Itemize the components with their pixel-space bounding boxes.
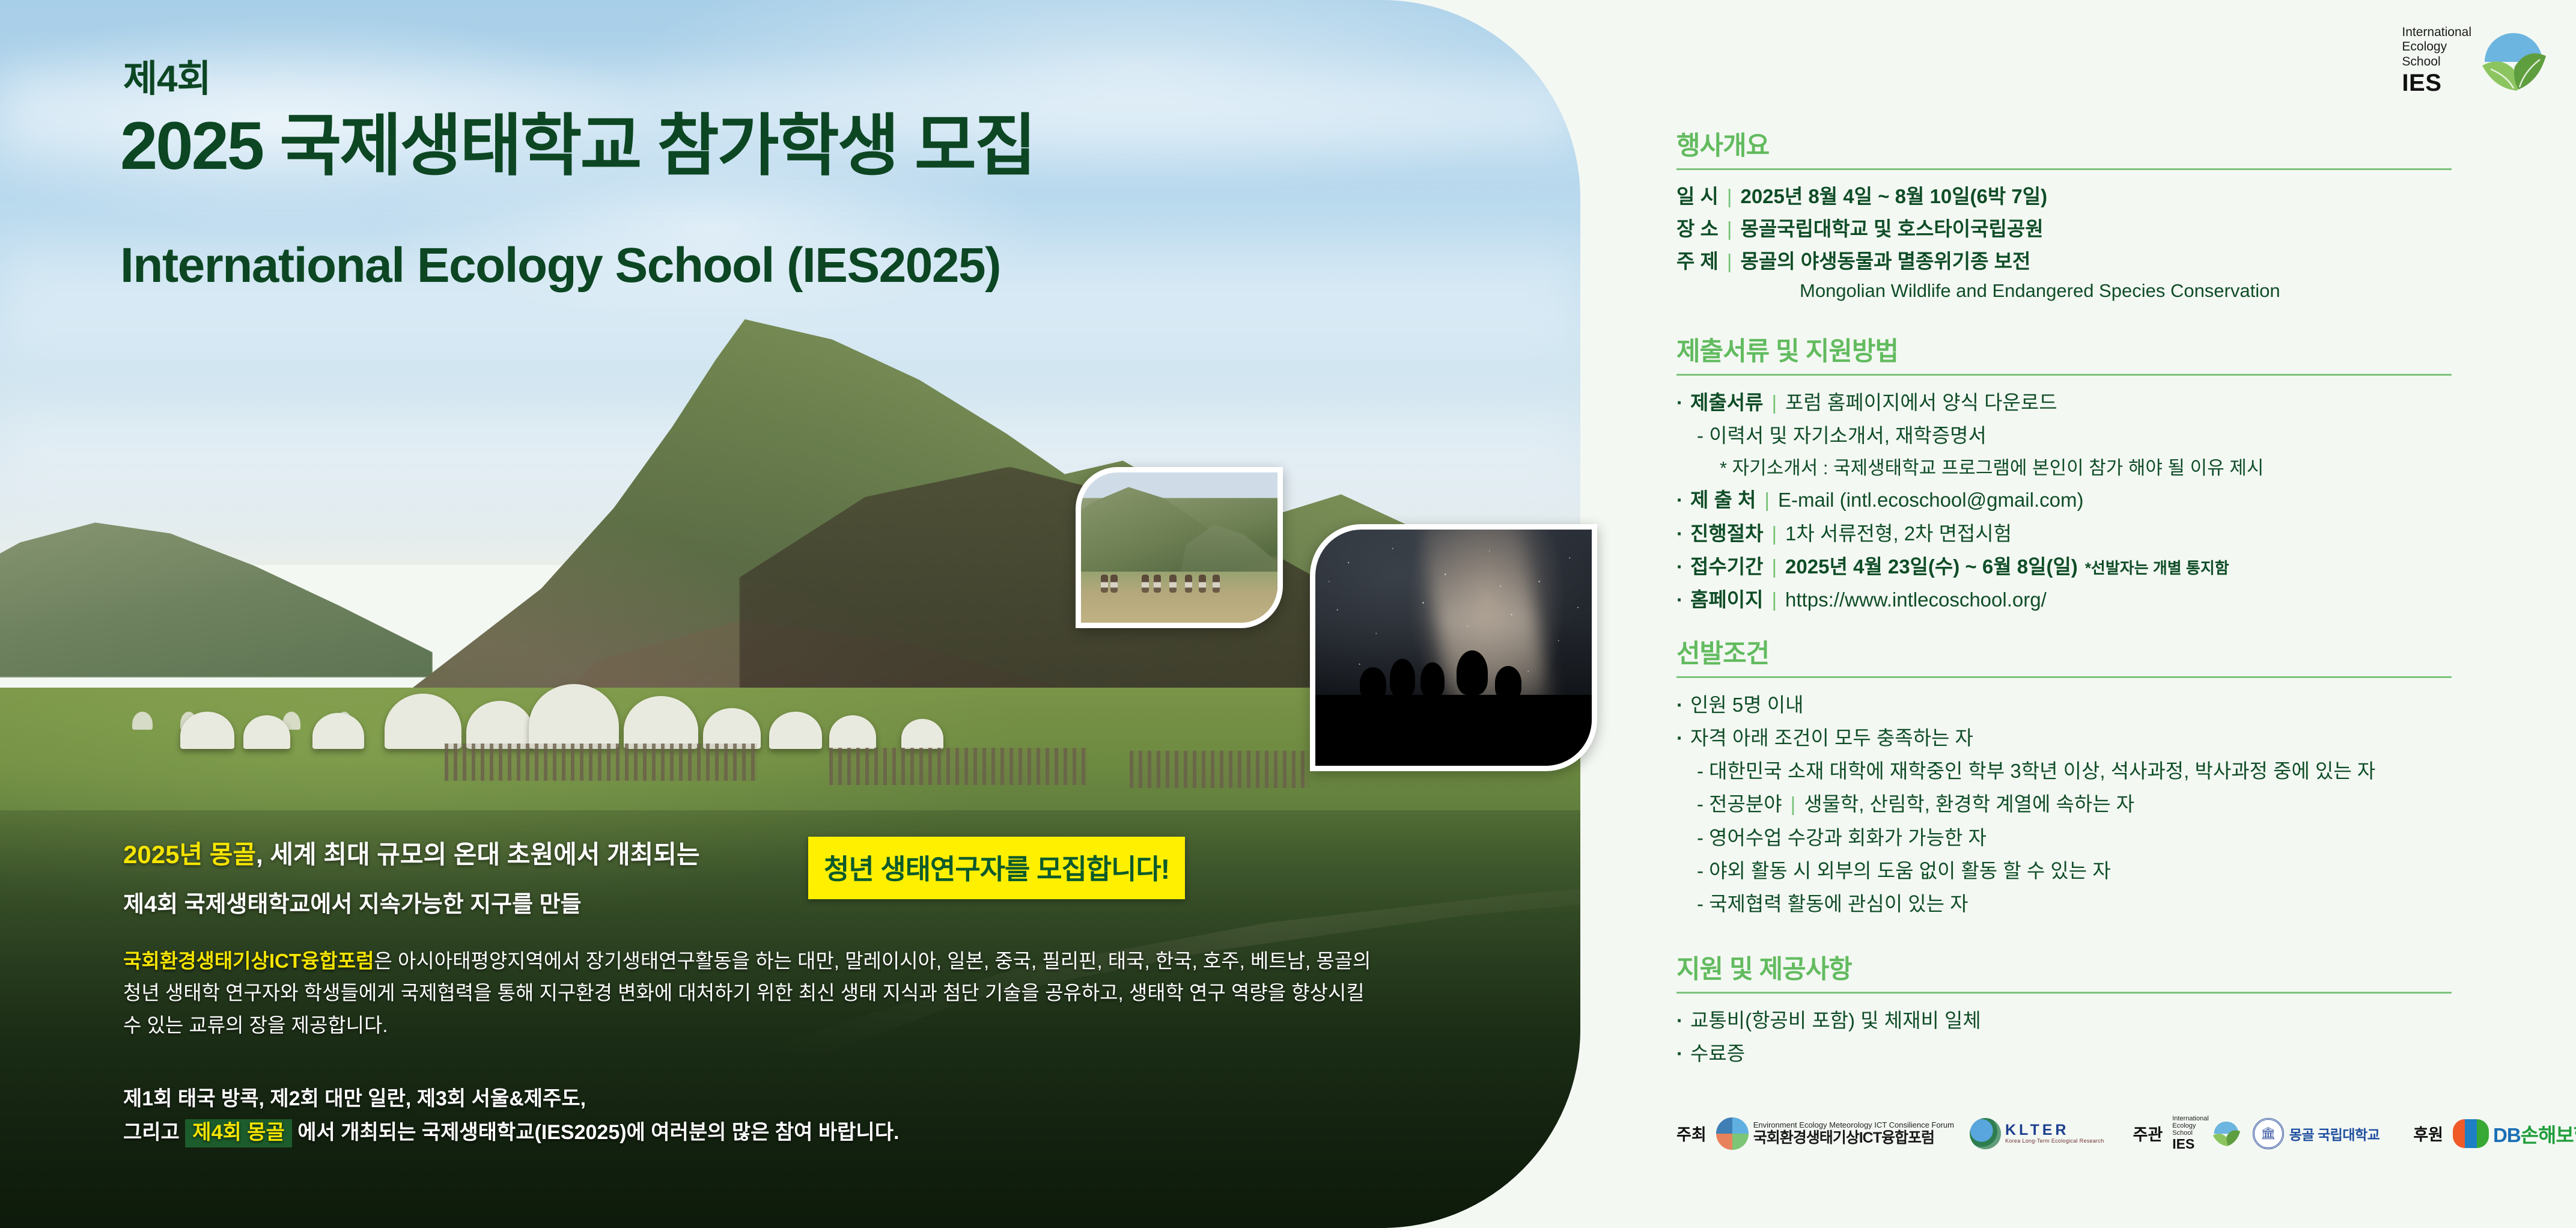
apply-label-period: 접수기간 (1690, 552, 1763, 582)
overview-value-theme: 몽골의 야생동물과 멸종위기종 보전 (1740, 247, 2030, 276)
overview-value-date: 2025년 8월 4일 ~ 8월 10일(6박 7일) (1740, 182, 2047, 211)
overview-row-venue: 장 소 | 몽골국립대학교 및 호스타이국립공원 (1676, 215, 2452, 243)
overview-row-date: 일 시 | 2025년 8월 4일 ~ 8월 10일(6박 7일) (1676, 182, 2452, 211)
criteria-sub-education: - 대한민국 소재 대학에 재학중인 학부 3학년 이상, 석사과정, 박사과정… (1676, 756, 2452, 786)
logo-ies: International Ecology School IES (2172, 1115, 2241, 1152)
rider-silhouette (1110, 575, 1118, 593)
overview-row-theme: 주 제 | 몽골의 야생동물과 멸종위기종 보전 (1676, 247, 2452, 276)
separator-icon: | (1719, 182, 1741, 211)
person-silhouette (1420, 662, 1445, 697)
rider-silhouette (1154, 575, 1161, 593)
support-certificate-text: 수료증 (1690, 1039, 1745, 1069)
forum-name-english: Environment Ecology Meteorology ICT Cons… (1753, 1121, 1954, 1130)
poster-root: 제4회 2025 국제생태학교 참가학생 모집 International Ec… (0, 0, 2576, 1228)
apply-label-submit: 제 출 처 (1690, 485, 1756, 515)
footer-sponsor-label: 후원 (2413, 1122, 2443, 1145)
brand-line-3: School (2402, 55, 2471, 69)
support-travel-text: 교통비(항공비 포함) 및 체재비 일체 (1690, 1006, 1981, 1036)
separator-icon: | (1763, 552, 1785, 582)
brand-logo-text: International Ecology School IES (2402, 25, 2471, 97)
section-divider (1676, 992, 2452, 994)
brand-line-2: Ecology (2402, 40, 2471, 54)
bullet-dot-icon: · (1676, 519, 1690, 549)
criteria-quota-text: 인원 5명 이내 (1690, 690, 1804, 720)
apply-value-website[interactable]: https://www.intlecoschool.org/ (1785, 585, 2047, 615)
apply-label-documents: 제출서류 (1690, 388, 1763, 418)
edition-chip: 제4회 몽골 (185, 1119, 291, 1147)
wooden-fence (1130, 751, 1310, 788)
db-prefix: DB (2493, 1124, 2521, 1146)
brand-acronym: IES (2402, 69, 2471, 97)
bullet-dot-icon: · (1676, 723, 1690, 753)
forum-text: Environment Ecology Meteorology ICT Cons… (1753, 1121, 1954, 1147)
closing-block: 제1회 태국 방콕, 제2회 대만 일란, 제3회 서울&제주도, 그리고 제4… (123, 1082, 1379, 1149)
separator-icon: | (1763, 519, 1785, 549)
separator-icon: | (1763, 585, 1785, 615)
klter-fullname: Korea Long-Term Ecological Research (2005, 1138, 2104, 1144)
apply-value-period: 2025년 4월 23일(수) ~ 6월 8일(일) (1785, 552, 2078, 582)
kicker-rest: , 세계 최대 규모의 온대 초원에서 개최되는 (256, 840, 700, 869)
apply-row-website: · 홈페이지 | https://www.intlecoschool.org/ (1676, 585, 2452, 615)
separator-icon: | (1782, 789, 1804, 819)
criteria-item-eligibility: · 자격 아래 조건이 모두 충족하는 자 (1676, 723, 2452, 753)
apply-period-note: *선발자는 개별 통지함 (2078, 557, 2229, 581)
rider-silhouette (1169, 575, 1177, 593)
section-divider (1676, 676, 2452, 678)
klter-text: KLTER Korea Long-Term Ecological Researc… (2005, 1122, 2104, 1144)
criteria-sub-english: - 영어수업 수강과 회화가 가능한 자 (1676, 823, 2452, 853)
kicker-highlight: 2025년 몽골 (123, 840, 256, 869)
section-overview: 행사개요 일 시 | 2025년 8월 4일 ~ 8월 10일(6박 7일) 장… (1676, 125, 2452, 302)
closing-post: 에서 개최되는 국제생태학교(IES2025)에 여러분의 많은 참여 바랍니다… (292, 1121, 900, 1144)
bullet-dot-icon: · (1676, 388, 1690, 418)
section-apply-heading: 제출서류 및 지원방법 (1676, 331, 2452, 368)
db-insurance-name: DB손해보험 (2493, 1119, 2576, 1148)
page-title-english: International Ecology School (IES2025) (120, 237, 1000, 294)
inset-photo-horseback-riding (1076, 467, 1283, 628)
db-mark-icon (2453, 1119, 2489, 1148)
forum-mark-icon (1716, 1117, 1749, 1150)
wooden-fence (445, 744, 757, 781)
ground-silhouette (1315, 695, 1592, 766)
criteria-sub-fieldwork: - 야외 활동 시 외부의 도움 없이 활동 할 수 있는 자 (1676, 856, 2452, 886)
ies-line-2: Ecology (2172, 1122, 2209, 1129)
person-silhouette (1360, 667, 1386, 700)
section-criteria: 선발조건 · 인원 5명 이내 · 자격 아래 조건이 모두 충족하는 자 - … (1676, 633, 2452, 922)
section-support-heading: 지원 및 제공사항 (1676, 948, 2452, 986)
wooden-fence (829, 748, 1088, 785)
brand-line-1: International (2402, 25, 2471, 40)
separator-icon: | (1719, 247, 1741, 276)
footer-organizer-label: 주관 (2133, 1122, 2163, 1145)
university-seal-icon: 🏛 (2253, 1118, 2284, 1149)
rider-silhouette (1185, 575, 1192, 593)
bullet-dot-icon: · (1676, 1006, 1690, 1036)
overview-value-venue: 몽골국립대학교 및 호스타이국립공원 (1740, 215, 2043, 243)
apply-value-documents: 포럼 홈페이지에서 양식 다운로드 (1785, 388, 2057, 418)
inset-photo-night-sky (1310, 524, 1597, 771)
rider-silhouette (1142, 575, 1149, 593)
ies-acronym: IES (2172, 1137, 2209, 1152)
logo-mongolian-university: 🏛 몽골 국립대학교 (2253, 1118, 2380, 1149)
university-name: 몽골 국립대학교 (2289, 1123, 2380, 1144)
apply-documents-sub-2: * 자기소개서 : 국제생태학교 프로그램에 본인이 참가 해야 될 이유 제시 (1676, 454, 2452, 482)
closing-line-1: 제1회 태국 방콕, 제2회 대만 일란, 제3회 서울&제주도, (123, 1082, 1379, 1116)
rider-silhouette (1101, 575, 1108, 593)
db-suffix: 손해보험 (2521, 1124, 2576, 1146)
ies-line-1: International (2172, 1115, 2209, 1122)
rider-silhouette (1199, 575, 1206, 593)
section-criteria-heading: 선발조건 (1676, 633, 2452, 670)
callout-badge: 청년 생태연구자를 모집합니다! (808, 837, 1185, 899)
klter-globe-icon (1970, 1118, 2001, 1149)
closing-line-2: 그리고 제4회 몽골 에서 개최되는 국제생태학교(IES2025)에 여러분의… (123, 1116, 1379, 1149)
section-divider (1676, 374, 2452, 376)
criteria-eligibility-text: 자격 아래 조건이 모두 충족하는 자 (1690, 723, 1973, 753)
section-apply: 제출서류 및 지원방법 · 제출서류 | 포럼 홈페이지에서 양식 다운로드 -… (1676, 331, 2452, 618)
klter-acronym: KLTER (2005, 1122, 2104, 1138)
ies-logo-text: International Ecology School IES (2172, 1115, 2209, 1152)
person-silhouette (1457, 650, 1488, 695)
section-support: 지원 및 제공사항 · 교통비(항공비 포함) 및 체재비 일체 · 수료증 (1676, 948, 2452, 1072)
section-divider (1676, 168, 2452, 170)
overview-theme-english: Mongolian Wildlife and Endangered Specie… (1676, 280, 2452, 302)
bullet-dot-icon: · (1676, 585, 1690, 615)
overview-label-theme: 주 제 (1676, 247, 1719, 276)
forum-name-korean: 국회환경생태기상ICT융합포럼 (1753, 1129, 1954, 1146)
brand-logo: International Ecology School IES (2402, 25, 2547, 97)
criteria-sub-interest: - 국제협력 활동에 관심이 있는 자 (1676, 889, 2452, 919)
footer-logos: 주최 Environment Ecology Meteorology ICT C… (1676, 1115, 2458, 1152)
criteria-major-prefix: - 전공분야 (1697, 789, 1782, 819)
apply-label-process: 진행절차 (1690, 519, 1763, 549)
separator-icon: | (1763, 388, 1785, 418)
bullet-dot-icon: · (1676, 690, 1690, 720)
criteria-sub-major: - 전공분야 | 생물학, 산림학, 환경학 계열에 속하는 자 (1676, 789, 2452, 819)
leaf-globe-icon (2480, 29, 2547, 93)
support-item-travel: · 교통비(항공비 포함) 및 체재비 일체 (1676, 1006, 2452, 1036)
rider-silhouette (1213, 575, 1220, 593)
bullet-dot-icon: · (1676, 552, 1690, 582)
logo-forum: Environment Ecology Meteorology ICT Cons… (1716, 1117, 1954, 1150)
bullet-dot-icon: · (1676, 485, 1690, 515)
apply-row-period: · 접수기간 | 2025년 4월 23일(수) ~ 6월 8일(일) *선발자… (1676, 552, 2452, 582)
criteria-item-quota: · 인원 5명 이내 (1676, 690, 2452, 720)
apply-row-process: · 진행절차 | 1차 서류전형, 2차 면접시험 (1676, 519, 2452, 549)
apply-value-process: 1차 서류전형, 2차 면접시험 (1785, 519, 2012, 549)
page-title-korean: 2025 국제생태학교 참가학생 모집 (120, 91, 1035, 189)
apply-label-website: 홈페이지 (1690, 585, 1763, 615)
forum-name-highlight: 국회환경생태기상ICT융합포럼 (123, 950, 374, 972)
support-item-certificate: · 수료증 (1676, 1039, 2452, 1069)
apply-value-submit-email[interactable]: E-mail (intl.ecoschool@gmail.com) (1778, 485, 2083, 515)
person-silhouette (1495, 666, 1521, 700)
logo-db-insurance: DB손해보험 (2453, 1119, 2576, 1148)
footer-host-label: 주최 (1676, 1122, 1707, 1145)
overview-label-date: 일 시 (1676, 182, 1719, 211)
apply-row-submit: · 제 출 처 | E-mail (intl.ecoschool@gmail.c… (1676, 485, 2452, 515)
leaf-globe-icon (2212, 1120, 2241, 1147)
apply-documents-sub-1: - 이력서 및 자기소개서, 재학증명서 (1676, 421, 2452, 451)
bullet-dot-icon: · (1676, 1039, 1690, 1069)
separator-icon: | (1719, 215, 1741, 243)
criteria-major-value: 생물학, 산림학, 환경학 계열에 속하는 자 (1804, 789, 2134, 819)
apply-row-documents: · 제출서류 | 포럼 홈페이지에서 양식 다운로드 (1676, 388, 2452, 418)
description-paragraph: 국회환경생태기상ICT융합포럼은 아시아태평양지역에서 장기생태연구활동을 하는… (123, 945, 1379, 1041)
overview-label-venue: 장 소 (1676, 215, 1719, 243)
logo-klter: KLTER Korea Long-Term Ecological Researc… (1970, 1118, 2104, 1149)
separator-icon: | (1756, 485, 1778, 515)
closing-pre: 그리고 (123, 1121, 185, 1144)
person-silhouette (1390, 659, 1415, 697)
section-overview-heading: 행사개요 (1676, 125, 2452, 162)
